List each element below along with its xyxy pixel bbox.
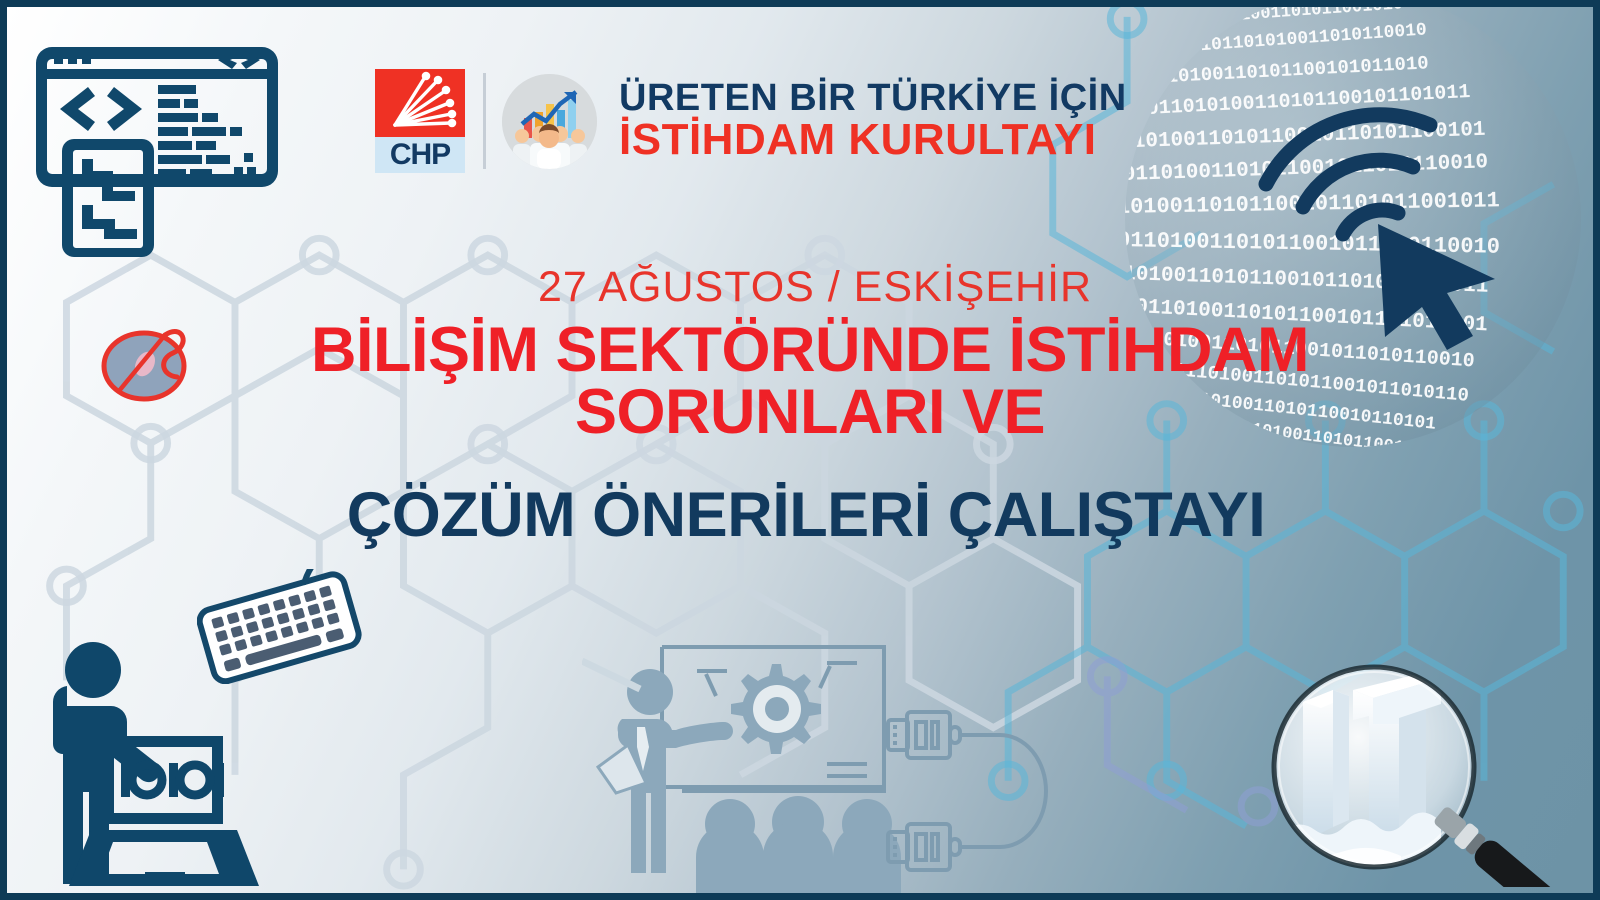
svg-text:0101101010011010110010: 0101101010011010110010 <box>1189 20 1427 57</box>
event-title-line-2: SORUNLARI VE <box>27 381 1593 443</box>
magnifying-glass-it-icon <box>1241 642 1571 887</box>
svg-text:1010011010110010110101100101: 1010011010110010110101100101 <box>1132 119 1485 154</box>
headline-line-1: ÜRETEN BİR TÜRKİYE İÇİN <box>619 79 1127 118</box>
svg-text:011010100110101100101101011: 011010100110101100101101011 <box>1146 81 1471 121</box>
event-headline: ÜRETEN BİR TÜRKİYE İÇİN İSTİHDAM KURULTA… <box>619 79 1127 163</box>
code-window-icon <box>32 29 282 261</box>
event-poster: 101001101011001010 010110101001101011001… <box>0 0 1600 900</box>
svg-text:101001101011001010: 101001101011001010 <box>1219 0 1404 27</box>
presentation-audience-icon <box>582 619 1082 900</box>
people-growth-chart-logo <box>502 74 597 169</box>
event-title-line-1: BİLİŞİM SEKTÖRÜNDE İSTİHDAM <box>27 319 1593 381</box>
header-logo-bar: CHP <box>375 69 1127 173</box>
person-with-laptop-icon <box>45 632 265 900</box>
event-title-navy: ÇÖZÜM ÖNERİLERİ ÇALIŞTAYI <box>7 484 1593 547</box>
event-title-line-3: ÇÖZÜM ÖNERİLERİ ÇALIŞTAYI <box>19 484 1593 547</box>
svg-text:10100110101100101011010: 10100110101100101011010 <box>1166 52 1429 88</box>
svg-text:01101001101011001011010110010: 01101001101011001011010110010 <box>1117 228 1500 260</box>
chp-arrows-icon <box>375 69 465 137</box>
event-date-location: 27 AĞUSTOS / ESKİŞEHİR <box>7 263 1593 312</box>
svg-text:01101001101011001011010110010: 01101001101011001011010110010 <box>1122 151 1488 187</box>
chp-wordmark-text: CHP <box>390 140 450 170</box>
svg-text:10100110101100101101011001011: 10100110101100101101011001011 <box>1117 188 1500 220</box>
svg-text:1010011010110: 1010011010110 <box>1272 442 1398 477</box>
chp-wordmark: CHP <box>375 137 465 173</box>
headline-line-2: İSTİHDAM KURULTAYI <box>619 118 1127 163</box>
logo-divider <box>483 73 486 169</box>
event-title-red: BİLİŞİM SEKTÖRÜNDE İSTİHDAM SORUNLARI VE <box>7 319 1593 444</box>
keyboard-icon <box>197 569 362 684</box>
chp-logo: CHP <box>375 69 465 173</box>
